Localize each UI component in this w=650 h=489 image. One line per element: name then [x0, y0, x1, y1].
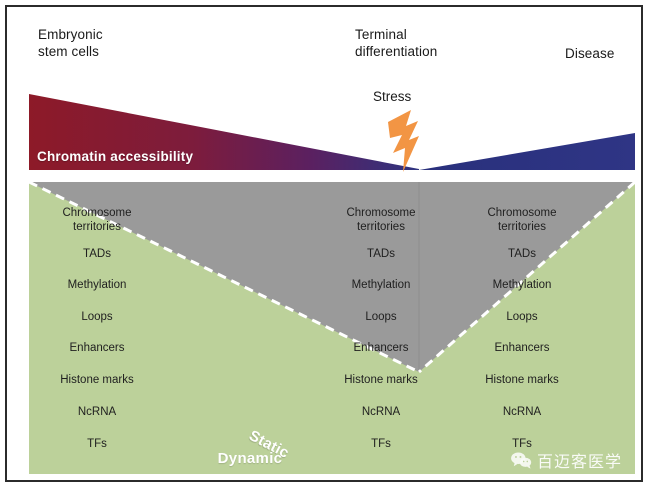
feature-cell: Loops	[81, 311, 112, 325]
stage-label-disease: Disease	[565, 45, 614, 62]
feature-cell: Methylation	[493, 279, 552, 293]
feature-cell: NcRNA	[362, 406, 400, 420]
feature-cell: TFs	[371, 438, 391, 452]
feature-cell: Loops	[506, 311, 537, 325]
stage-label-embryonic-stem-cells: Embryonic stem cells	[38, 26, 103, 60]
feature-cell: NcRNA	[503, 406, 541, 420]
feature-cell: Methylation	[352, 279, 411, 293]
feature-cell: TADs	[83, 248, 111, 262]
feature-cell: Loops	[365, 311, 396, 325]
feature-cell: Histone marks	[60, 374, 134, 388]
watermark: 百迈客医学	[510, 448, 622, 472]
wechat-icon	[510, 451, 532, 469]
figure-frame: Embryonic stem cells Terminal differenti…	[5, 5, 643, 482]
lightning-bolt-icon	[385, 110, 425, 172]
feature-cell: Enhancers	[495, 342, 550, 356]
stress-label: Stress	[373, 89, 411, 104]
feature-cell: Methylation	[68, 279, 127, 293]
feature-cell: NcRNA	[78, 406, 116, 420]
chromatin-accessibility-label: Chromatin accessibility	[37, 149, 193, 164]
feature-cell: Chromosome territories	[346, 207, 415, 234]
feature-cell: TFs	[87, 438, 107, 452]
feature-cell: Histone marks	[344, 374, 418, 388]
dynamic-region-label: Dynamic	[190, 450, 310, 467]
watermark-text: 百迈客医学	[537, 448, 622, 472]
feature-cell: TADs	[367, 248, 395, 262]
feature-cell: TADs	[508, 248, 536, 262]
feature-cell: Chromosome territories	[62, 207, 131, 234]
feature-cell: Chromosome territories	[487, 207, 556, 234]
feature-cell: Histone marks	[485, 374, 559, 388]
figure-canvas: Embryonic stem cells Terminal differenti…	[0, 0, 650, 489]
accessibility-wedge-right	[419, 133, 635, 170]
feature-cell: Enhancers	[354, 342, 409, 356]
feature-cell: Enhancers	[70, 342, 125, 356]
stage-label-terminal-differentiation: Terminal differentiation	[355, 26, 437, 60]
